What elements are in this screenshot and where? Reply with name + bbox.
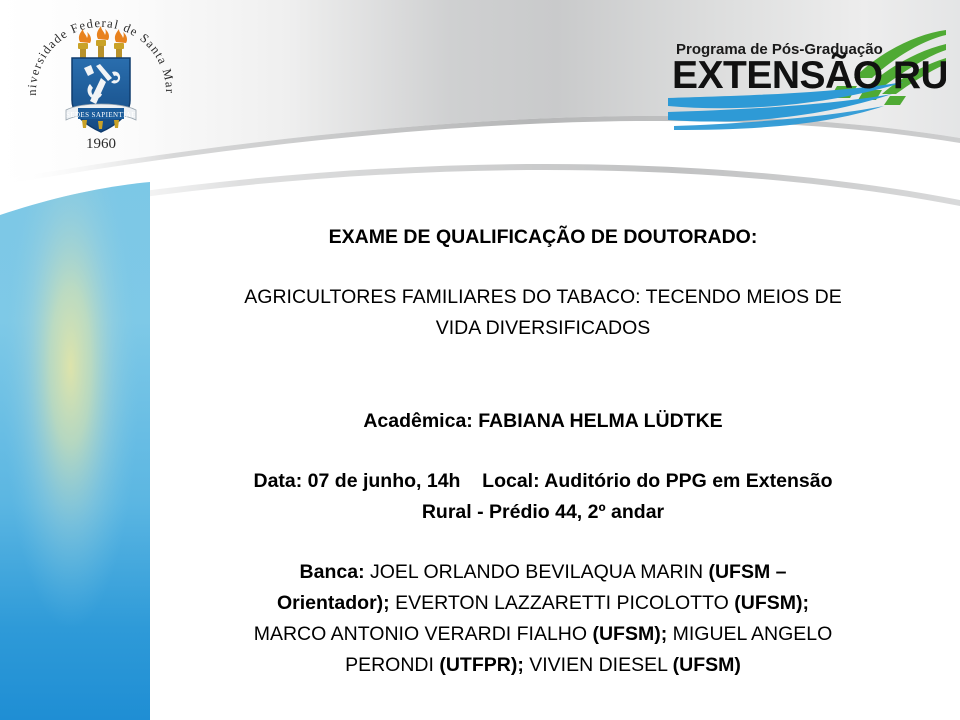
presentation-slide: Universidade Federal de Santa Maria [0, 0, 960, 720]
spacer-after-subtitle [163, 344, 923, 406]
local-value-line-1: Auditório do PPG em Extensão [544, 470, 832, 492]
banca-label: Banca: [300, 561, 365, 583]
banca-member-4-name-part2: PERONDI [345, 654, 439, 676]
local-value-line-2: Rural - Prédio 44, 2º andar [422, 501, 664, 523]
banca-member-4-name-part1: MIGUEL ANGELO [667, 623, 832, 645]
local-label: Local: [482, 470, 539, 492]
extensao-rural-logo: Programa de Pós-Graduação EXTENSÃO RURAL [668, 26, 946, 130]
academica-label: Acadêmica: [363, 410, 472, 432]
banca-block: Banca: JOEL ORLANDO BEVILAQUA MARIN (UFS… [163, 557, 923, 681]
banca-member-4-affiliation: (UTFPR); [439, 654, 523, 676]
banca-member-3-name: MARCO ANTONIO VERARDI FIALHO [254, 623, 593, 645]
banca-member-1-affiliation-part1: (UFSM – [708, 561, 786, 583]
banca-member-5-affiliation: (UFSM) [673, 654, 741, 676]
academica-name: FABIANA HELMA LÜDTKE [478, 410, 722, 432]
banca-member-1-affiliation-part2: Orientador); [277, 592, 390, 614]
left-accent-sidebar [0, 150, 150, 720]
banca-member-3-affiliation: (UFSM); [592, 623, 667, 645]
subtitle-line-1: AGRICULTORES FAMILIARES DO TABACO: TECEN… [244, 286, 841, 308]
banca-member-2-affiliation: (UFSM); [734, 592, 809, 614]
spacer-after-academica [163, 436, 923, 466]
data-local-separator [466, 470, 482, 492]
ufsm-motto-text: SEDES SAPIENTIAE [66, 111, 136, 119]
data-value: 07 de junho, 14h [308, 470, 461, 492]
sidebar-gradient-graphic [0, 150, 150, 720]
sidebar-radial-glow [0, 150, 150, 720]
data-label: Data: [253, 470, 302, 492]
banca-member-2-name: EVERTON LAZZARETTI PICOLOTTO [390, 592, 735, 614]
slide-content: EXAME DE QUALIFICAÇÃO DE DOUTORADO: AGRI… [163, 222, 923, 681]
slide-subtitle: AGRICULTORES FAMILIARES DO TABACO: TECEN… [163, 282, 923, 344]
subtitle-line-2: VIDA DIVERSIFICADOS [436, 317, 651, 339]
ufsm-year-text: 1960 [86, 136, 116, 152]
banca-member-5-name: VIVIEN DIESEL [524, 654, 673, 676]
slide-title: EXAME DE QUALIFICAÇÃO DE DOUTORADO: [163, 222, 923, 252]
academica-line: Acadêmica: FABIANA HELMA LÜDTKE [163, 406, 923, 436]
data-local-line: Data: 07 de junho, 14h Local: Auditório … [163, 466, 923, 528]
ufsm-motto-ribbon: SEDES SAPIENTIAE [66, 104, 136, 120]
ufsm-crest-logo: Universidade Federal de Santa Maria [22, 8, 180, 166]
extensao-wordmark-text: EXTENSÃO RURAL [672, 53, 946, 97]
banca-member-1-name: JOEL ORLANDO BEVILAQUA MARIN [365, 561, 709, 583]
spacer-after-data-local [163, 528, 923, 557]
